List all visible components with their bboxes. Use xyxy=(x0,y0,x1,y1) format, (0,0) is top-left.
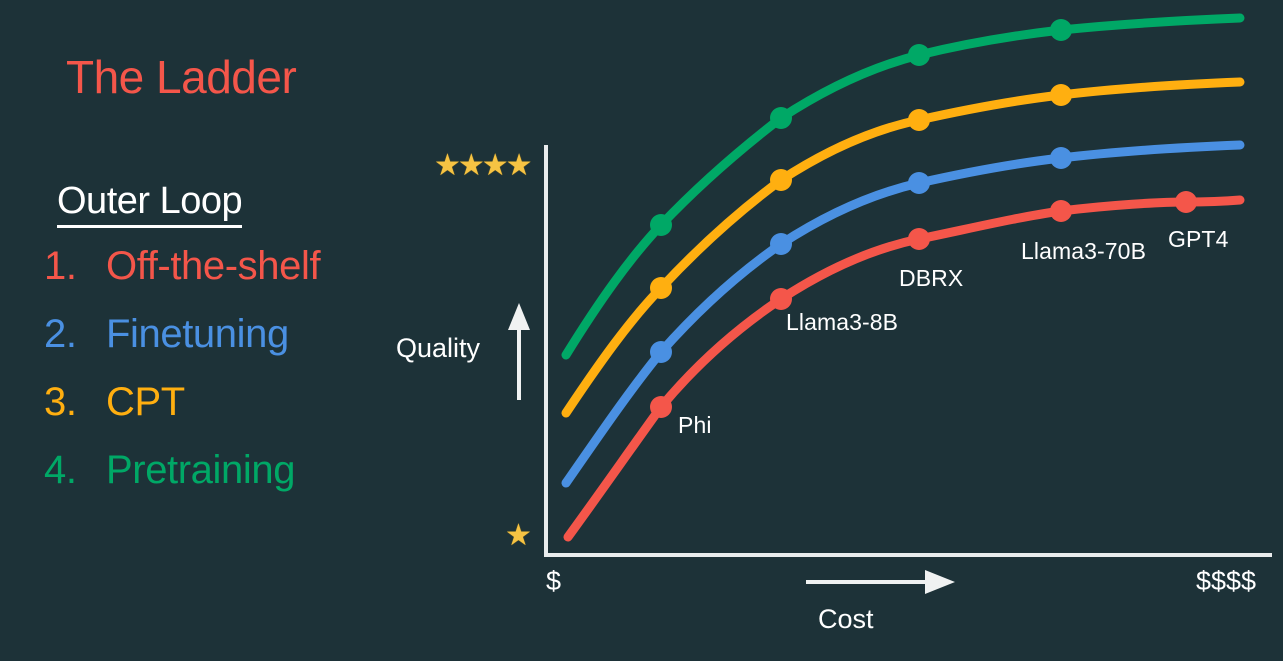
x-axis-tick-max: $$$$ xyxy=(1196,566,1256,597)
data-point-marker xyxy=(650,341,672,363)
quality-low-star-rating: ★ xyxy=(505,521,529,551)
data-point-marker xyxy=(770,107,792,129)
data-point-marker xyxy=(770,169,792,191)
slide-canvas: The Ladder Outer Loop 1. Off-the-shelf 2… xyxy=(0,0,1283,661)
star-icon: ★ xyxy=(505,521,529,551)
data-point-marker xyxy=(650,214,672,236)
quality-high-star-rating: ★★★★ xyxy=(434,151,530,181)
x-axis-tick-min: $ xyxy=(546,566,561,597)
quality-vs-cost-chart: ★★★★ ★ Quality Cost $ $$$$ Phi Llama3-8B… xyxy=(0,0,1283,661)
series-finetuning xyxy=(566,145,1240,483)
data-point-marker xyxy=(770,288,792,310)
data-point-marker xyxy=(1050,19,1072,41)
data-point-marker xyxy=(650,396,672,418)
point-label-llama3-8b: Llama3-8B xyxy=(786,309,898,336)
data-point-marker xyxy=(770,233,792,255)
star-icon: ★★★★ xyxy=(434,151,530,181)
data-point-marker xyxy=(1050,200,1072,222)
data-point-marker xyxy=(1050,84,1072,106)
data-point-marker xyxy=(908,109,930,131)
chart-svg xyxy=(0,0,1283,661)
x-axis-label: Cost xyxy=(818,604,874,635)
quality-up-arrow-icon xyxy=(508,303,530,400)
data-point-marker xyxy=(1050,147,1072,169)
data-point-marker xyxy=(1175,191,1197,213)
point-label-gpt4: GPT4 xyxy=(1168,226,1228,253)
data-point-marker xyxy=(908,44,930,66)
point-label-dbrx: DBRX xyxy=(899,265,963,292)
cost-right-arrow-icon xyxy=(806,570,955,594)
data-point-marker xyxy=(908,228,930,250)
data-point-marker xyxy=(650,277,672,299)
data-point-marker xyxy=(908,172,930,194)
point-label-phi: Phi xyxy=(678,412,712,439)
y-axis-label: Quality xyxy=(396,333,480,364)
point-label-llama3-70b: Llama3-70B xyxy=(1021,238,1146,265)
